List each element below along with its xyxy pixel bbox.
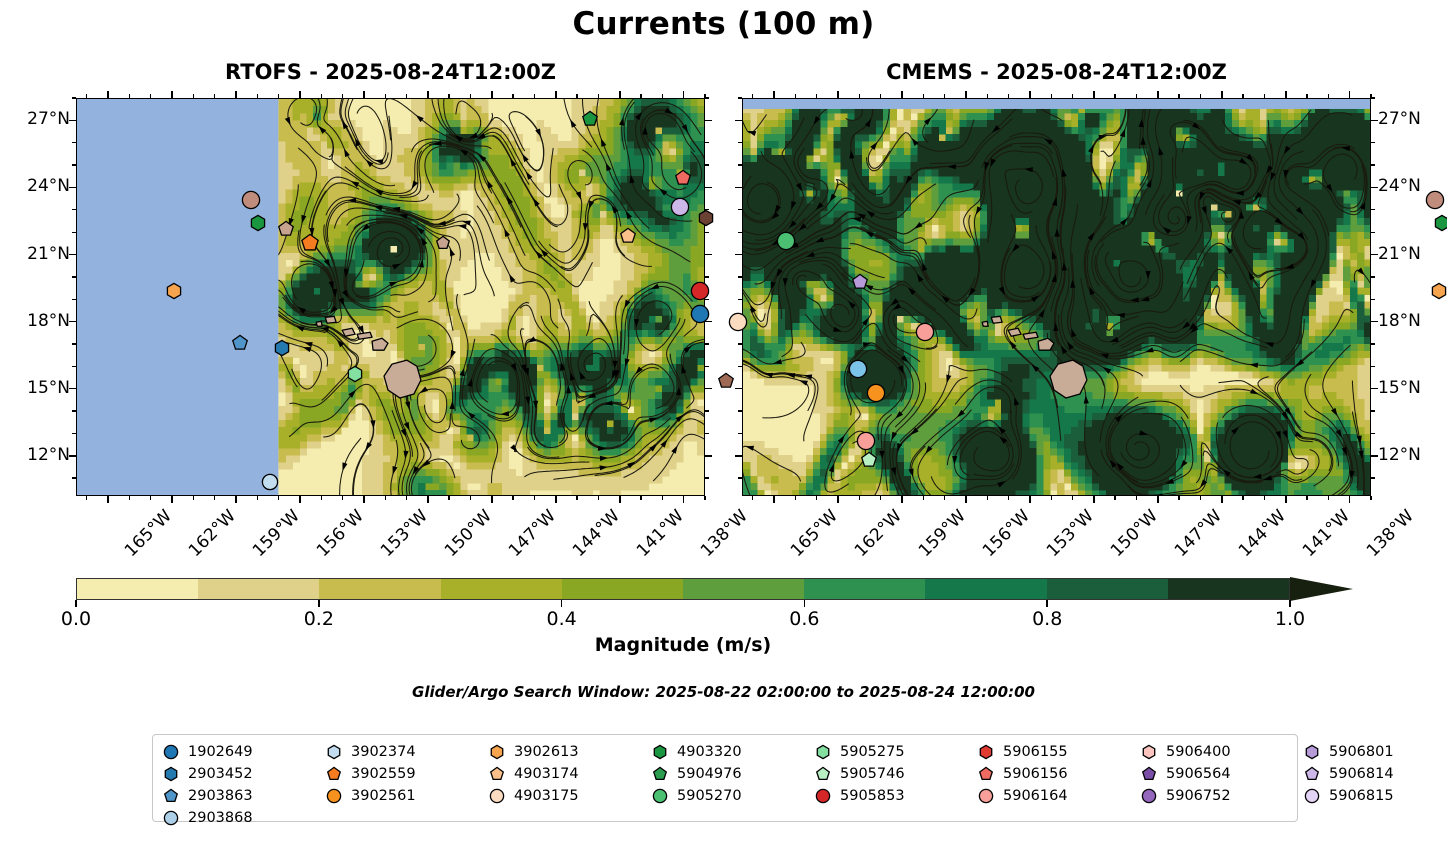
lat-minor-tick	[705, 366, 709, 367]
colorbar-tick-label: 0.0	[61, 608, 91, 630]
legend-item-label: 5905275	[840, 744, 905, 760]
legend-marker-icon-5906801	[1304, 744, 1320, 760]
legend-item-5905746[interactable]: 5905746	[815, 763, 978, 785]
legend-item-label: 5906801	[1329, 744, 1394, 760]
lat-tick	[1371, 254, 1378, 256]
float-marker-5905746[interactable]	[860, 451, 878, 469]
lon-tick	[683, 496, 685, 503]
lat-minor-tick	[705, 433, 709, 434]
lon-minor-tick	[512, 496, 513, 500]
lat-tick	[1371, 388, 1378, 390]
lon-tick-top	[491, 91, 493, 98]
legend-item-label: 5906564	[1166, 766, 1231, 782]
lon-tick-top	[555, 91, 557, 98]
lat-tick-label-right: 27°N	[1378, 111, 1421, 128]
lon-tick	[1221, 496, 1223, 503]
legend-marker-icon-3902613	[489, 744, 505, 760]
lon-tick-label: 144°W	[569, 506, 624, 561]
lat-tick	[69, 321, 76, 323]
legend-item-1902649[interactable]: 1902649	[163, 741, 326, 763]
float-marker-5905275[interactable]	[346, 365, 364, 383]
legend-item-label: 2903868	[188, 810, 253, 826]
colorbar	[76, 578, 1353, 600]
lon-tick-top	[1093, 91, 1095, 98]
float-marker-4903320[interactable]	[1433, 214, 1447, 232]
float-marker-7901104c[interactable]	[717, 372, 735, 390]
lat-tick-label-left: 15°N	[4, 380, 70, 397]
lon-tick-label: 165°W	[121, 506, 176, 561]
lat-tick	[705, 388, 712, 390]
lon-tick	[773, 496, 775, 503]
lat-minor-tick	[1371, 433, 1375, 434]
lon-tick-label: 159°W	[915, 506, 970, 561]
float-marker-3902561[interactable]	[866, 383, 886, 403]
colorbar-label: Magnitude (m/s)	[76, 634, 1290, 656]
lon-minor-tick	[923, 496, 924, 500]
legend-item-label: 5904976	[677, 766, 742, 782]
lon-tick-top	[1349, 91, 1351, 98]
float-marker-4903320[interactable]	[249, 214, 267, 232]
lon-minor-tick	[1242, 496, 1243, 500]
lon-tick-label: 156°W	[979, 506, 1034, 561]
colorbar-band-2	[319, 579, 440, 599]
cmems-field	[743, 99, 1370, 496]
lat-tick-label-left: 21°N	[4, 246, 70, 263]
legend-marker-icon-5906814	[1304, 766, 1320, 782]
lat-tick	[69, 254, 76, 256]
colorbar-tick	[1046, 600, 1048, 607]
lon-minor-tick	[1328, 496, 1329, 500]
lon-tick-label: 138°W	[697, 506, 752, 561]
lon-minor-tick	[406, 496, 407, 500]
lon-tick	[107, 496, 109, 503]
legend-marker-icon-5906400	[1141, 744, 1157, 760]
lat-minor-tick	[1371, 97, 1375, 98]
legend-item-3902374[interactable]: 3902374	[326, 741, 489, 763]
lat-tick	[69, 120, 76, 122]
lon-minor-tick	[1178, 496, 1179, 500]
legend-item-5906801[interactable]: 5906801	[1304, 741, 1447, 763]
colorbar-band-7	[925, 579, 1046, 599]
legend-item-3902613[interactable]: 3902613	[489, 741, 652, 763]
colorbar-band-3	[441, 579, 562, 599]
lon-minor-tick	[704, 496, 705, 500]
float-marker-4903174[interactable]	[619, 227, 637, 245]
lon-tick	[299, 496, 301, 503]
float-marker-5906156[interactable]	[674, 169, 692, 187]
lat-minor-tick	[705, 142, 709, 143]
lon-minor-tick	[1370, 496, 1371, 500]
legend-item-label: 5906752	[1166, 788, 1231, 804]
lat-tick	[69, 455, 76, 457]
legend-item-2903868[interactable]: 2903868	[163, 807, 326, 829]
legend-marker-icon-5906156	[978, 766, 994, 782]
lon-tick-top	[107, 91, 109, 98]
lat-tick	[735, 187, 742, 189]
lat-tick	[1371, 455, 1378, 457]
lat-tick	[1371, 187, 1378, 189]
colorbar-tick-label: 0.6	[789, 608, 819, 630]
float-marker-5904976[interactable]	[581, 110, 599, 128]
legend-item-label: 5906156	[1003, 766, 1068, 782]
lon-minor-tick	[816, 496, 817, 500]
lat-minor-tick	[1371, 343, 1375, 344]
legend-marker-icon-5906815	[1304, 788, 1320, 804]
legend-item-5904976[interactable]: 5904976	[652, 763, 815, 785]
legend-item-5906815[interactable]: 5906815	[1304, 785, 1447, 807]
lat-tick	[1371, 321, 1378, 323]
legend-column-4: 590527559057465905853	[815, 741, 978, 829]
legend-marker-icon-5905746	[815, 766, 831, 782]
panel-title-rtofs: RTOFS - 2025-08-24T12:00Z	[76, 60, 705, 84]
lat-tick	[705, 120, 712, 122]
lon-tick	[363, 496, 365, 503]
legend-item-3902559[interactable]: 3902559	[326, 763, 489, 785]
lon-tick	[427, 496, 429, 503]
lat-tick-label-left: 12°N	[4, 447, 70, 464]
lon-minor-tick	[1306, 496, 1307, 500]
float-marker-2903863[interactable]	[231, 334, 249, 352]
float-marker-3902613[interactable]	[1430, 282, 1447, 300]
lon-tick-label: 138°W	[1363, 506, 1418, 561]
lon-tick-label: 150°W	[1107, 506, 1162, 561]
lon-minor-tick	[321, 496, 322, 500]
legend-item-label: 5906164	[1003, 788, 1068, 804]
colorbar-extend-arrow	[1290, 577, 1353, 601]
lon-tick	[619, 496, 621, 503]
lon-tick	[1093, 496, 1095, 503]
lon-minor-tick	[640, 496, 641, 500]
float-marker-2903452[interactable]	[273, 339, 291, 357]
float-marker-7901104b[interactable]	[435, 235, 451, 251]
colorbar-band-8	[1047, 579, 1168, 599]
lon-tick-top	[171, 91, 173, 98]
float-marker-5906164b[interactable]	[856, 431, 876, 451]
legend-item-5906164[interactable]: 5906164	[978, 785, 1141, 807]
lat-tick-label-left: 18°N	[4, 313, 70, 330]
float-marker-1902649[interactable]	[690, 304, 710, 324]
lon-tick-label: 144°W	[1235, 506, 1290, 561]
lat-minor-tick	[705, 97, 709, 98]
lon-tick	[1349, 496, 1351, 503]
legend-marker-icon-5906752	[1141, 788, 1157, 804]
lon-minor-tick	[193, 496, 194, 500]
legend-item-4903175[interactable]: 4903175	[489, 785, 652, 807]
legend-marker-icon-3902374	[326, 744, 342, 760]
colorbar-tick-label: 0.8	[1032, 608, 1062, 630]
legend-item-label: 3902613	[514, 744, 579, 760]
legend-marker-icon-5905275	[815, 744, 831, 760]
legend-marker-icon-5905853	[815, 788, 831, 804]
lon-minor-tick	[1200, 496, 1201, 500]
lon-minor-tick	[385, 496, 386, 500]
lon-minor-tick	[576, 496, 577, 500]
lon-tick	[235, 496, 237, 503]
legend-item-4903174[interactable]: 4903174	[489, 763, 652, 785]
legend-item-label: 5905853	[840, 788, 905, 804]
legend-marker-icon-4903175	[489, 788, 505, 804]
float-marker-3902559[interactable]	[300, 233, 320, 253]
lon-minor-tick	[880, 496, 881, 500]
legend-item-5906814[interactable]: 5906814	[1304, 763, 1447, 785]
lon-tick-label: 162°W	[185, 506, 240, 561]
lon-tick	[837, 496, 839, 503]
legend-marker-icon-2903863	[163, 788, 179, 804]
lon-tick	[965, 496, 967, 503]
lon-minor-tick	[752, 496, 753, 500]
legend-marker-icon-5906155	[978, 744, 994, 760]
legend-grid: 1902649290345229038632903868390237439025…	[163, 741, 1447, 829]
lat-tick-label-left: 27°N	[4, 111, 70, 128]
legend-column-3: 490332059049765905270	[652, 741, 815, 829]
legend-marker-icon-3902559	[326, 766, 342, 782]
map-panel-cmems[interactable]	[742, 98, 1371, 496]
lon-tick-top	[235, 91, 237, 98]
legend-marker-icon-5905270	[652, 788, 668, 804]
lat-minor-tick	[705, 343, 709, 344]
lon-tick	[901, 496, 903, 503]
lat-tick	[69, 187, 76, 189]
float-marker-5906400[interactable]	[728, 312, 748, 332]
legend-item-label: 5906814	[1329, 766, 1394, 782]
legend-item-label: 5906815	[1329, 788, 1394, 804]
legend-marker-icon-5906564	[1141, 766, 1157, 782]
lon-tick-label: 141°W	[633, 506, 688, 561]
legend-item-label: 5906155	[1003, 744, 1068, 760]
lon-tick-label: 147°W	[1171, 506, 1226, 561]
legend-item-label: 3902374	[351, 744, 416, 760]
lat-tick-label-right: 24°N	[1378, 178, 1421, 195]
float-marker-5907061[interactable]	[697, 209, 715, 227]
lon-minor-tick	[448, 496, 449, 500]
float-marker-5905270[interactable]	[776, 231, 796, 251]
lat-minor-tick	[1371, 232, 1375, 233]
legend-column-0: 1902649290345229038632903868	[163, 741, 326, 829]
lon-minor-tick	[150, 496, 151, 500]
lon-minor-tick	[470, 496, 471, 500]
lon-tick	[1157, 496, 1159, 503]
legend-column-5: 590615559061565906164	[978, 741, 1141, 829]
lon-tick-top	[1029, 91, 1031, 98]
lon-tick	[1285, 496, 1287, 503]
lon-minor-tick	[534, 496, 535, 500]
lat-tick	[735, 254, 742, 256]
lon-tick-label: 159°W	[249, 506, 304, 561]
legend-item-3902561[interactable]: 3902561	[326, 785, 489, 807]
lon-tick-top	[773, 91, 775, 98]
lon-tick-top	[619, 91, 621, 98]
lon-tick-label: 156°W	[313, 506, 368, 561]
legend-column-2: 390261349031744903175	[489, 741, 652, 829]
float-marker-7901104[interactable]	[277, 220, 295, 238]
colorbar-gradient	[76, 578, 1290, 600]
colorbar-tick-label: 0.4	[546, 608, 576, 630]
lon-minor-tick	[1051, 496, 1052, 500]
float-marker-3902613[interactable]	[165, 282, 183, 300]
colorbar-band-9	[1168, 579, 1289, 599]
colorbar-band-0	[77, 579, 198, 599]
lat-tick	[705, 455, 712, 457]
lat-minor-tick	[705, 410, 709, 411]
lat-minor-tick	[1371, 410, 1375, 411]
lon-minor-tick	[278, 496, 279, 500]
lat-minor-tick	[1371, 276, 1375, 277]
lat-tick-label-right: 21°N	[1378, 246, 1421, 263]
legend-marker-icon-4903174	[489, 766, 505, 782]
lon-tick-top	[837, 91, 839, 98]
legend-item-5905853[interactable]: 5905853	[815, 785, 978, 807]
float-marker-7901106[interactable]	[241, 190, 261, 210]
legend-marker-icon-5906164	[978, 788, 994, 804]
lon-tick	[555, 496, 557, 503]
colorbar-tick	[318, 600, 320, 607]
lon-tick-top	[683, 91, 685, 98]
lat-minor-tick	[705, 164, 709, 165]
legend-box: 1902649290345229038632903868390237439025…	[152, 734, 1298, 822]
float-marker-2903868[interactable]	[261, 473, 279, 491]
lat-tick-label-left: 24°N	[4, 178, 70, 195]
legend-item-label: 3902561	[351, 788, 416, 804]
lon-tick-top	[1285, 91, 1287, 98]
lat-minor-tick	[1371, 142, 1375, 143]
lat-tick	[735, 455, 742, 457]
lon-tick-top	[363, 91, 365, 98]
legend-item-5906400[interactable]: 5906400	[1141, 741, 1304, 763]
lon-minor-tick	[944, 496, 945, 500]
legend-item-2903452[interactable]: 2903452	[163, 763, 326, 785]
legend-item-label: 5906400	[1166, 744, 1231, 760]
colorbar-band-1	[198, 579, 319, 599]
legend-column-6: 590640059065645906752	[1141, 741, 1304, 829]
lon-tick-label: 147°W	[505, 506, 560, 561]
search-window-caption: Glider/Argo Search Window: 2025-08-22 02…	[0, 683, 1447, 701]
figure-title: Currents (100 m)	[0, 6, 1447, 42]
lon-tick-top	[1157, 91, 1159, 98]
lon-minor-tick	[795, 496, 796, 500]
float-marker-7901106[interactable]	[1425, 190, 1445, 210]
colorbar-tick	[561, 600, 563, 607]
colorbar-tick	[75, 600, 77, 607]
lat-tick-label-right: 18°N	[1378, 313, 1421, 330]
legend-marker-icon-3902561	[326, 788, 342, 804]
lon-tick-top	[1221, 91, 1223, 98]
colorbar-tick-label: 1.0	[1275, 608, 1305, 630]
lon-tick-label: 150°W	[441, 506, 496, 561]
lat-tick	[1371, 120, 1378, 122]
lat-minor-tick	[705, 477, 709, 478]
lon-minor-tick	[1264, 496, 1265, 500]
lat-tick-label-right: 15°N	[1378, 380, 1421, 397]
lon-tick-label: 153°W	[1043, 506, 1098, 561]
legend-marker-icon-2903452	[163, 766, 179, 782]
colorbar-band-5	[683, 579, 804, 599]
lat-tick	[705, 187, 712, 189]
lon-tick-top	[901, 91, 903, 98]
lon-tick-top	[965, 91, 967, 98]
float-marker-2903868b[interactable]	[848, 359, 868, 379]
lon-minor-tick	[987, 496, 988, 500]
lat-tick	[705, 254, 712, 256]
legend-item-label: 2903863	[188, 788, 253, 804]
lat-minor-tick	[1371, 477, 1375, 478]
lon-minor-tick	[129, 496, 130, 500]
lon-tick-label: 165°W	[787, 506, 842, 561]
lon-tick-top	[299, 91, 301, 98]
lon-minor-tick	[598, 496, 599, 500]
lon-minor-tick	[342, 496, 343, 500]
float-marker-5906801[interactable]	[670, 197, 690, 217]
colorbar-band-4	[562, 579, 683, 599]
legend-item-label: 4903175	[514, 788, 579, 804]
lat-tick	[735, 120, 742, 122]
lon-minor-tick	[1072, 496, 1073, 500]
legend-marker-icon-5904976	[652, 766, 668, 782]
lon-tick-top	[427, 91, 429, 98]
float-marker-5906164[interactable]	[915, 322, 935, 342]
colorbar-tick	[1289, 600, 1291, 607]
legend-item-label: 5905270	[677, 788, 742, 804]
lat-tick-label-right: 12°N	[1378, 447, 1421, 464]
legend-item-label: 1902649	[188, 744, 253, 760]
lon-minor-tick	[662, 496, 663, 500]
lon-minor-tick	[1114, 496, 1115, 500]
legend-item-5906752[interactable]: 5906752	[1141, 785, 1304, 807]
legend-column-1: 390237439025593902561	[326, 741, 489, 829]
lat-minor-tick	[1371, 366, 1375, 367]
lat-minor-tick	[1371, 299, 1375, 300]
legend-item-label: 4903174	[514, 766, 579, 782]
legend-item-5905275[interactable]: 5905275	[815, 741, 978, 763]
legend-item-4903320[interactable]: 4903320	[652, 741, 815, 763]
lon-minor-tick	[214, 496, 215, 500]
lon-tick	[491, 496, 493, 503]
legend-item-label: 3902559	[351, 766, 416, 782]
legend-marker-icon-1902649	[163, 744, 179, 760]
lat-minor-tick	[1371, 164, 1375, 165]
lat-tick	[735, 388, 742, 390]
float-marker-5906564[interactable]	[851, 273, 869, 291]
legend-column-7: 590680159068145906815	[1304, 741, 1447, 829]
legend-item-5906564[interactable]: 5906564	[1141, 763, 1304, 785]
lon-tick	[1029, 496, 1031, 503]
lon-minor-tick	[1136, 496, 1137, 500]
lon-tick-label: 141°W	[1299, 506, 1354, 561]
legend-item-2903863[interactable]: 2903863	[163, 785, 326, 807]
float-marker-5905853[interactable]	[690, 281, 710, 301]
lon-tick-label: 162°W	[851, 506, 906, 561]
colorbar-tick-label: 0.2	[304, 608, 334, 630]
legend-item-5905270[interactable]: 5905270	[652, 785, 815, 807]
lon-minor-tick	[257, 496, 258, 500]
legend-item-label: 2903452	[188, 766, 253, 782]
colorbar-band-6	[804, 579, 925, 599]
legend-item-5906156[interactable]: 5906156	[978, 763, 1141, 785]
lon-tick	[171, 496, 173, 503]
lon-minor-tick	[86, 496, 87, 500]
lon-minor-tick	[1008, 496, 1009, 500]
legend-item-label: 5905746	[840, 766, 905, 782]
lon-minor-tick	[859, 496, 860, 500]
lat-minor-tick	[705, 276, 709, 277]
legend-marker-icon-4903320	[652, 744, 668, 760]
legend-marker-icon-2903868	[163, 810, 179, 826]
lat-tick	[69, 388, 76, 390]
colorbar-tick	[804, 600, 806, 607]
panel-title-cmems: CMEMS - 2025-08-24T12:00Z	[742, 60, 1371, 84]
legend-item-5906155[interactable]: 5906155	[978, 741, 1141, 763]
legend-item-label: 4903320	[677, 744, 742, 760]
lat-minor-tick	[1371, 209, 1375, 210]
